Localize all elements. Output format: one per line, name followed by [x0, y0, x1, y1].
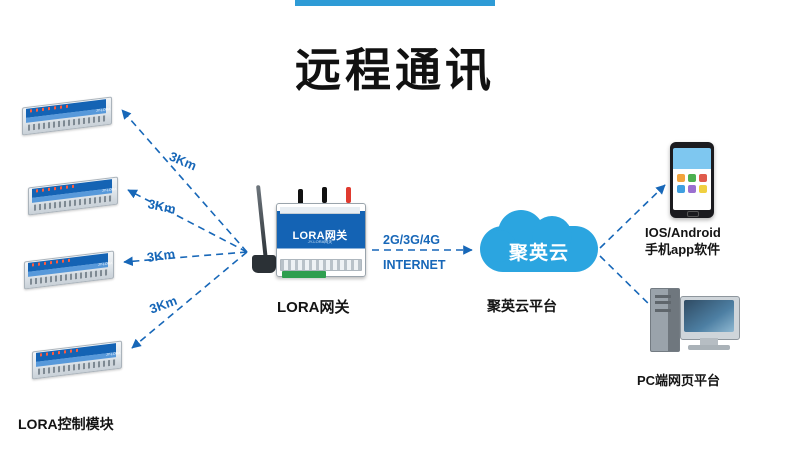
gateway-port-row: [280, 259, 362, 271]
gateway-main-antenna: [256, 185, 268, 261]
gateway-antenna-stub-3: [346, 187, 351, 203]
caption-mobile-app-line1: IOS/Android: [645, 224, 721, 241]
gateway-device-sublabel: JY-LORA网关: [276, 239, 364, 245]
gateway-antenna-base: [252, 255, 276, 273]
caption-gateway: LORA网关: [277, 296, 350, 317]
page-title: 远程通讯: [0, 34, 790, 100]
phone-app-icons: [677, 174, 707, 193]
pc-monitor-stand: [700, 338, 718, 345]
diagram-canvas: 远程通讯 JY-LORA JY-LORA: [0, 0, 790, 473]
pc-monitor-screen: [684, 300, 734, 332]
cloud-label: 聚英云: [480, 238, 598, 265]
caption-pc-web-platform: PC端网页平台: [637, 370, 720, 389]
gateway-terminal-connector: [282, 271, 326, 278]
caption-cloud-platform: 聚英云平台: [487, 296, 557, 316]
distance-label-3: 3Km: [146, 246, 176, 265]
distance-label-2: 3Km: [146, 196, 177, 217]
network-type-label: 2G/3G/4G: [383, 233, 440, 247]
lora-module-3[interactable]: JY-LORA: [24, 250, 116, 290]
lora-module-4[interactable]: JY-LORA: [32, 340, 124, 380]
pc-workstation[interactable]: [650, 288, 742, 362]
lora-module-1[interactable]: JY-LORA: [22, 96, 114, 136]
caption-lora-modules: LORA控制模块: [18, 414, 114, 434]
top-accent-bar: [295, 0, 495, 6]
distance-label-1: 3Km: [167, 149, 199, 174]
cloud-platform-node[interactable]: 聚英云: [480, 208, 598, 288]
phone-screen: [673, 148, 711, 210]
phone-home-button: [687, 211, 699, 217]
gateway-antenna-stub-2: [322, 187, 327, 203]
lora-gateway-device[interactable]: LORA网关 JY-LORA网关: [258, 185, 368, 295]
lora-module-2[interactable]: JY-LORA: [28, 176, 120, 216]
gateway-top-panel: [280, 207, 360, 214]
pc-tower: [650, 288, 680, 352]
smartphone-device[interactable]: [670, 142, 716, 220]
caption-mobile-app-line2: 手机app软件: [645, 241, 721, 258]
caption-mobile-app: IOS/Android 手机app软件: [645, 224, 721, 258]
distance-label-4: 3Km: [147, 293, 179, 317]
pc-monitor-base: [688, 345, 730, 350]
internet-label: INTERNET: [383, 258, 446, 272]
